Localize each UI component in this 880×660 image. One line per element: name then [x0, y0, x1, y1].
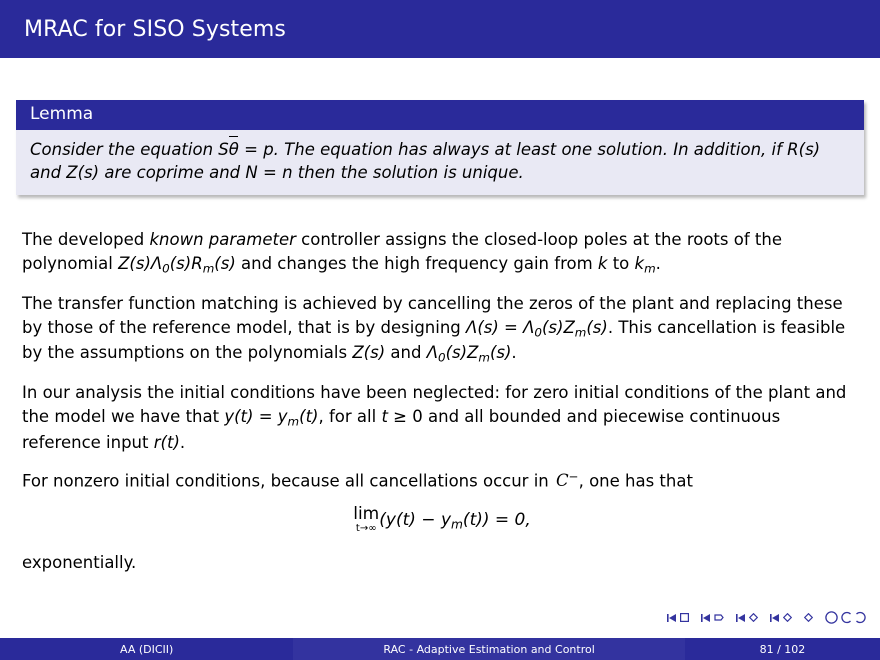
lemma-symbol-n: n: [282, 163, 292, 182]
p1-text-f: .: [656, 254, 661, 273]
previous-slide-group[interactable]: [701, 613, 724, 623]
lemma-equals: =: [258, 163, 282, 182]
zoom-in-icon[interactable]: [841, 611, 852, 624]
first-slide-icon[interactable]: [667, 613, 677, 623]
limit-subscript: t→∞: [353, 524, 379, 534]
forward-icon[interactable]: [770, 613, 780, 623]
footer-author: AA (DICII): [0, 638, 293, 660]
paragraph-4: For nonzero initial conditions, because …: [22, 469, 862, 493]
p4-text-a: For nonzero initial conditions, because …: [22, 471, 554, 490]
paragraph-2: The transfer function matching is achiev…: [22, 292, 862, 367]
p2-symbol-Zs: Z(s): [352, 343, 385, 362]
navigation-icons[interactable]: [667, 611, 866, 624]
back-shape-icon[interactable]: [749, 613, 758, 622]
page-title: MRAC for SISO Systems: [0, 17, 286, 42]
footer-course: RAC - Adaptive Estimation and Control: [293, 638, 685, 660]
footer-page-number: 81 / 102: [685, 638, 880, 660]
p3-symbol-rt: r(t): [154, 433, 180, 452]
lemma-body: Consider the equation Sθ = p. The equati…: [16, 130, 864, 195]
p2-text-c: and: [385, 343, 427, 362]
lemma-eq-S: S: [218, 140, 228, 159]
lemma-arg-s1: (s): [799, 140, 820, 159]
p4-text-b: , one has that: [579, 471, 693, 490]
paragraph-3: In our analysis the initial conditions h…: [22, 381, 862, 455]
equation-expression: (y(t) − ym(t)) = 0,: [379, 510, 531, 530]
limit-operator: lim t→∞: [353, 506, 379, 534]
lemma-text-part-5: then the solution is unique.: [293, 163, 524, 182]
last-slide-group[interactable]: [804, 613, 813, 623]
slide-footer: AA (DICII) RAC - Adaptive Estimation and…: [0, 638, 880, 660]
back-icon[interactable]: [736, 613, 746, 623]
slide-content: The developed known parameter controller…: [22, 228, 862, 589]
lemma-text-part-3: and: [30, 163, 66, 182]
lemma-text-part: Consider the equation: [30, 140, 218, 159]
lemma-block: Lemma Consider the equation Sθ = p. The …: [16, 100, 864, 195]
limit-label: lim: [353, 506, 379, 523]
p4-symbol-c-minus: C−: [554, 471, 579, 490]
forward-shape-icon[interactable]: [783, 613, 792, 622]
p2-symbol-L0Zm: Λ0(s)Zm(s): [427, 343, 512, 362]
paragraph-5: exponentially.: [22, 551, 862, 575]
slide-header: MRAC for SISO Systems: [0, 0, 880, 58]
p3-text-d: .: [180, 433, 185, 452]
p3-condition: t ≥ 0: [381, 407, 422, 426]
first-slide-group[interactable]: [667, 613, 689, 623]
lemma-eq-p: = p: [239, 140, 274, 159]
p1-polynomial: Z: [118, 254, 129, 273]
lemma-text-part-2: . The equation has always at least one s…: [274, 140, 788, 159]
lemma-symbol-R: R: [787, 140, 798, 159]
p2-text-d: .: [511, 343, 516, 362]
forward-group[interactable]: [770, 613, 792, 623]
last-slide-icon[interactable]: [804, 613, 813, 623]
p1-text-d: and changes the high frequency gain from: [236, 254, 598, 273]
lemma-eq-theta: θ: [229, 140, 239, 159]
lemma-text-part-4: are coprime and: [99, 163, 245, 182]
back-group[interactable]: [736, 613, 758, 623]
paragraph-1: The developed known parameter controller…: [22, 228, 862, 278]
p1-text-e: to: [607, 254, 634, 273]
zoom-out-icon[interactable]: [825, 611, 838, 624]
previous-slide-icon[interactable]: [701, 613, 711, 623]
p3-equation: y(t) = ym(t): [224, 407, 318, 426]
zoom-group[interactable]: [825, 611, 866, 624]
p1-text-a: The developed: [22, 230, 150, 249]
p1-gain-km: k: [635, 254, 645, 273]
p3-text-b: , for all: [318, 407, 381, 426]
first-slide-box-icon[interactable]: [680, 613, 689, 622]
lemma-arg-s2: (s): [78, 163, 99, 182]
lemma-symbol-N: N: [245, 163, 257, 182]
lemma-title: Lemma: [16, 100, 864, 130]
slide: MRAC for SISO Systems Lemma Consider the…: [0, 0, 880, 660]
lemma-symbol-Z: Z: [66, 163, 77, 182]
reset-zoom-icon[interactable]: [855, 611, 866, 624]
displayed-equation: lim t→∞ (y(t) − ym(t)) = 0,: [22, 506, 862, 534]
p2-equation: Λ(s) = Λ0(s)Zm(s): [466, 318, 608, 337]
previous-slide-shape-icon[interactable]: [714, 613, 724, 622]
p1-emphasis: known parameter: [150, 230, 296, 249]
